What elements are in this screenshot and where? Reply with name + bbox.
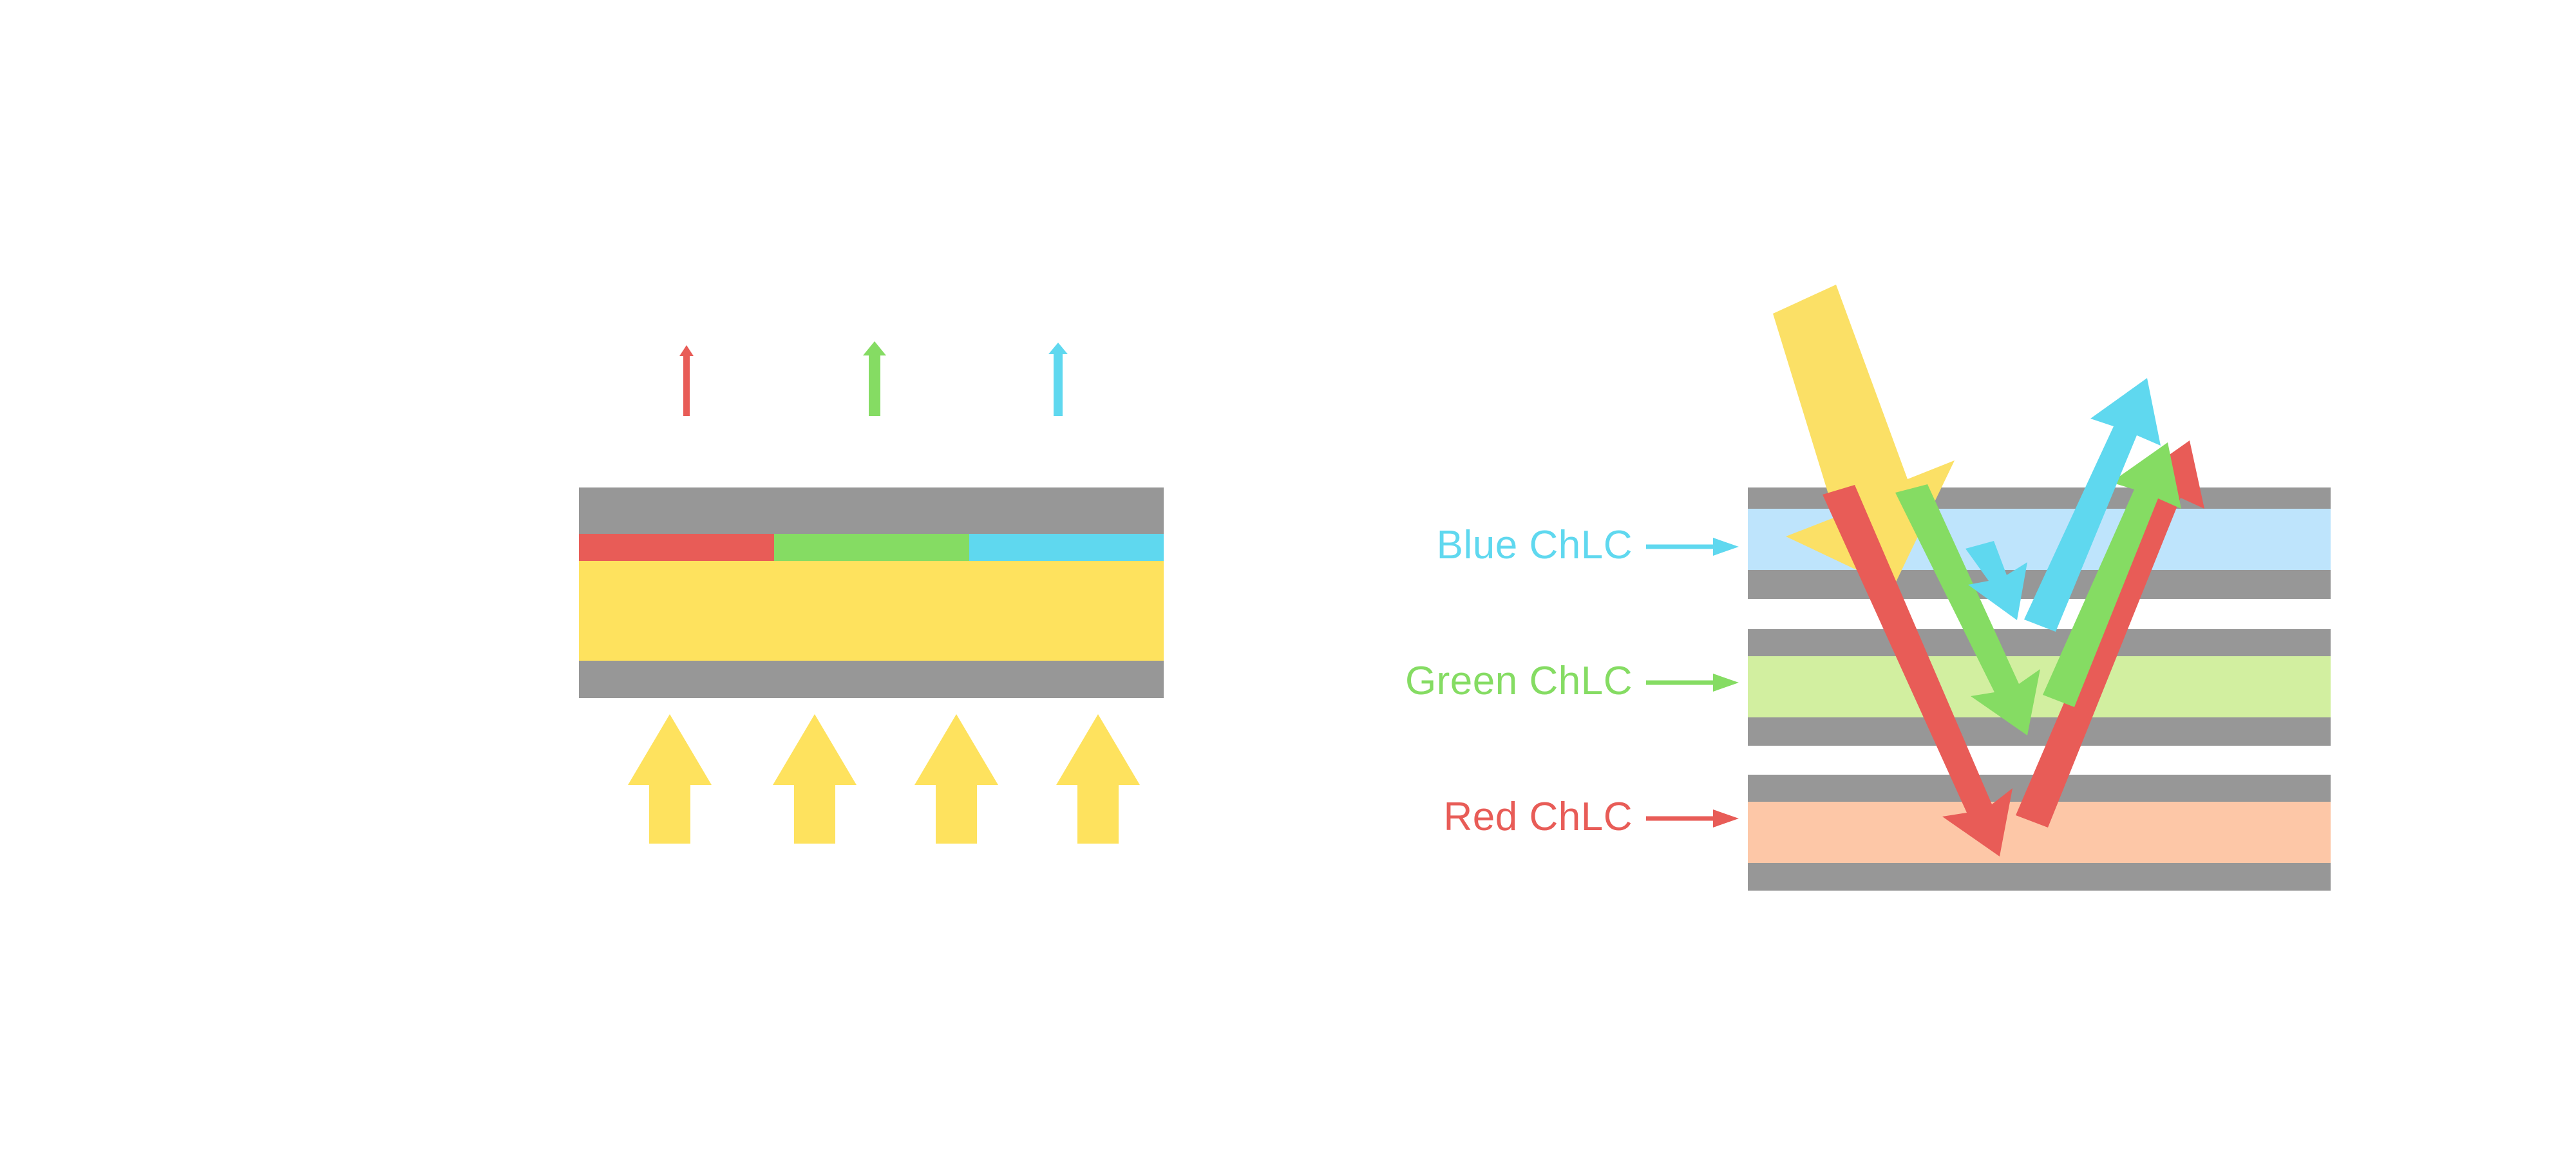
right-panel-labels [1646,538,1739,828]
left-top-gray-layer [579,487,1164,534]
left-blue-filter-segment [969,534,1164,561]
left-bottom-gray-layer [579,661,1164,698]
green-chlc-label: Green ChLC [1388,658,1633,704]
red-chlc-label-text: Red ChLC [1444,795,1633,839]
diagram-canvas: Blue ChLC Green ChLC Red ChLC [0,0,2576,1154]
green-cell-bottom-electrode [1748,717,2331,746]
left-red-filter-segment [579,534,774,561]
left-yellow-backlight-layer [579,561,1164,661]
left-green-filter-segment [774,534,969,561]
backlight-arrow-2 [773,714,857,844]
green-chlc-label-text: Green ChLC [1405,659,1633,703]
blue-chlc-label: Blue ChLC [1433,522,1633,568]
backlight-arrow-3 [914,714,998,844]
left-input-arrows [628,714,1140,844]
left-stack [579,487,1164,698]
left-emissive-panel [0,0,2576,1154]
red-label-leader-arrowhead [1713,809,1739,828]
backlight-arrow-4 [1056,714,1140,844]
red-out-arrow-shape [679,345,694,416]
green-cell-top-electrode [1748,629,2331,656]
red-cell-bottom-electrode [1748,863,2331,891]
red-out-arrow [679,348,702,412]
blue-out-arrow-shape [1048,343,1068,416]
red-chlc-label: Red ChLC [1433,794,1633,840]
green-chlc-layer [1748,656,2331,717]
green-label-leader-arrowhead [1713,674,1739,692]
blue-label-leader-arrowhead [1713,538,1739,556]
blue-chlc-label-text: Blue ChLC [1437,523,1633,567]
right-reflective-panel [1748,285,2331,891]
left-output-arrows [679,341,1068,416]
backlight-arrow-1 [628,714,712,844]
green-out-arrow-shape [863,341,886,416]
